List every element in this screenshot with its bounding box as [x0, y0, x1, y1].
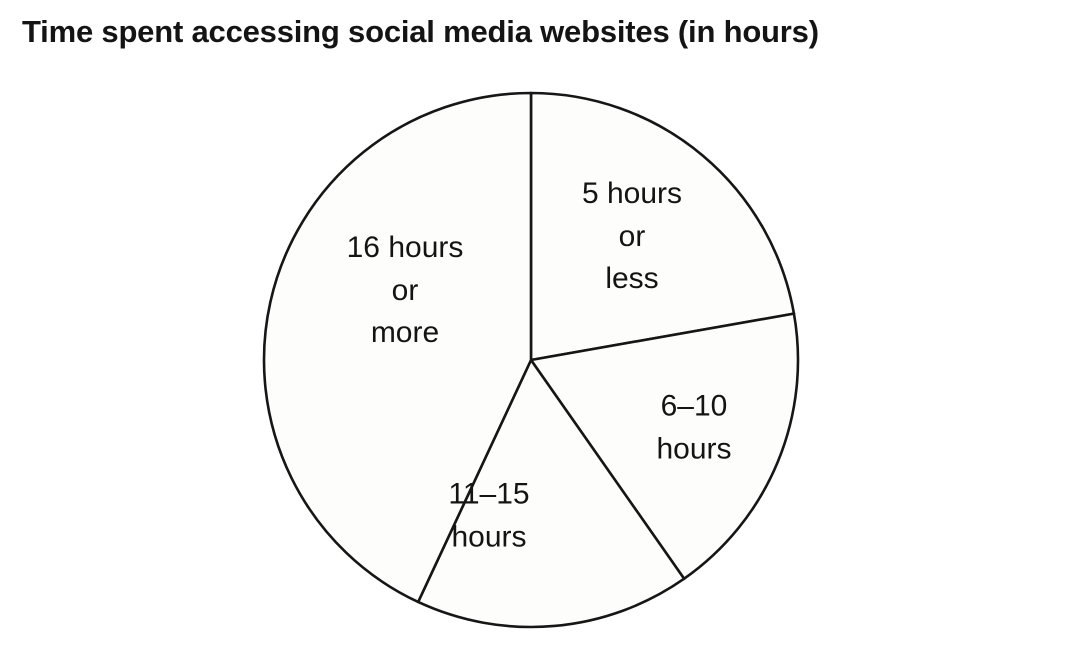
pie-slice-label-line: hours [448, 516, 529, 559]
pie-slice-label-4: 16 hoursormore [347, 227, 464, 355]
pie-slice-label-line: 6–10 [656, 385, 731, 428]
pie-slice-label-line: 11–15 [448, 473, 529, 516]
pie-slice-label-line: 16 hours [347, 227, 464, 270]
pie-slice-label-line: 5 hours [582, 173, 682, 216]
pie-slice-label-2: 6–10hours [656, 385, 731, 470]
pie-slice-label-3: 11–15hours [448, 473, 529, 558]
pie-slice-label-line: or [582, 216, 682, 259]
pie-slice-label-line: more [347, 312, 464, 355]
pie-slice-label-line: or [347, 270, 464, 313]
pie-chart: 5 hoursorless6–10hours11–15hours16 hours… [0, 0, 1066, 654]
pie-slice-label-line: hours [656, 428, 731, 471]
pie-slice-label-line: less [582, 258, 682, 301]
pie-slice-label-1: 5 hoursorless [582, 173, 682, 301]
pie-chart-svg [0, 0, 1066, 654]
